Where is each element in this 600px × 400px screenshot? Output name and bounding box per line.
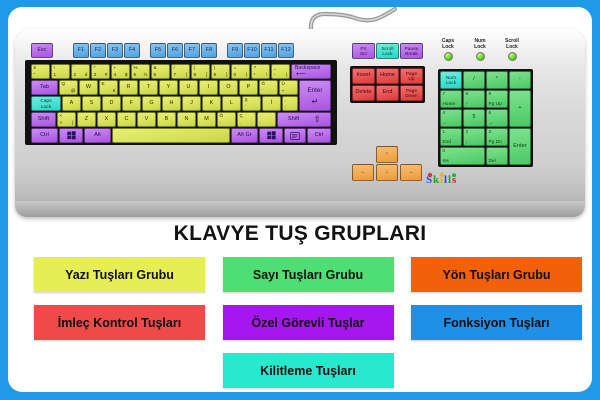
key-label: *	[496, 77, 498, 83]
indicator-label: ScrollLock	[499, 39, 525, 51]
svg-text:l: l	[448, 174, 451, 186]
key-key[interactable]: *	[486, 71, 508, 89]
legend-chip-y-n-tu-lar-grubu[interactable]: Yön Tuşları Grubu	[411, 257, 582, 292]
svg-text:k: k	[433, 174, 440, 186]
key-4[interactable]: 4←	[440, 109, 462, 127]
key-label: Home	[380, 73, 395, 79]
key-key[interactable]: +	[509, 90, 531, 127]
key-del[interactable]: .Del	[486, 147, 508, 165]
key-alt[interactable]: Alt	[84, 128, 111, 143]
key-num-lock[interactable]: NumLock	[440, 71, 462, 89]
key-end[interactable]: End	[376, 85, 399, 101]
legend-chip-label: Yazı Tuşları Grubu	[65, 268, 174, 282]
legend-chip-zel-g-revli-tu-lar[interactable]: Özel Görevli Tuşlar	[223, 305, 394, 340]
key-label: Alt	[94, 133, 101, 139]
key-5[interactable]: 5	[463, 109, 485, 127]
key-delete[interactable]: Delete	[352, 85, 375, 101]
legend-chip-label: Fonksiyon Tuşları	[443, 316, 549, 330]
key-label: 5	[472, 115, 475, 121]
key-label: /	[473, 77, 475, 83]
key-label: Delete	[355, 90, 371, 96]
legend-chip-label: Yön Tuşları Grubu	[442, 268, 550, 282]
legend-chip-label: İmleç Kontrol Tuşları	[58, 316, 181, 330]
indicator-label: NumLock	[467, 39, 493, 51]
key-3-pg-dn[interactable]: 3Pg Dn	[486, 128, 508, 146]
arrow-key-cluster: ↑←↓→	[352, 146, 424, 182]
key-label: Ctrl	[315, 133, 324, 139]
key-prt-scr[interactable]: PrtScr	[352, 43, 375, 59]
legend-row: İmleç Kontrol TuşlarıÖzel Görevli Tuşlar…	[34, 305, 582, 340]
key-ctrl[interactable]: Ctrl	[307, 128, 331, 143]
legend-chip-label: Özel Görevli Tuşlar	[251, 316, 364, 330]
cursor-control-cluster: InsertHomePageUpDeleteEndPageDown	[352, 68, 424, 102]
key-9-pg-up[interactable]: 9Pg Up	[486, 90, 508, 108]
key-ctrl[interactable]: Ctrl	[31, 128, 58, 143]
lock-indicator-panel: CapsLockNumLockScrollLock	[435, 39, 535, 63]
keyboard-illustration: EscF1F2F3F4F5F6F7F8F9F10F11F12 é"!1'2é^3…	[15, 29, 585, 217]
key-label: ↑	[386, 152, 389, 158]
main-key-region: EscF1F2F3F4F5F6F7F8F9F10F11F12 é"!1'2é^3…	[23, 37, 343, 149]
legend-row: Yazı Tuşları GrubuSayı Tuşları GrubuYön …	[34, 257, 582, 292]
legend-chip-i-mle-kontrol-tu-lar[interactable]: İmleç Kontrol Tuşları	[34, 305, 205, 340]
legend-row: Kilitleme Tuşları	[34, 353, 582, 388]
legend-chip-say-tu-lar-grubu[interactable]: Sayı Tuşları Grubu	[223, 257, 394, 292]
legend-chip-fonksiyon-tu-lar[interactable]: Fonksiyon Tuşları	[411, 305, 582, 340]
key-1-end[interactable]: 1End	[440, 128, 462, 146]
key-label: -	[519, 77, 521, 83]
key-page-up[interactable]: PageUp	[400, 68, 423, 84]
legend-chip-label: Kilitleme Tuşları	[260, 364, 356, 378]
key-key[interactable]: -	[509, 71, 531, 89]
key-page-down[interactable]: PageDown	[400, 85, 423, 101]
page-title: KLAVYE TUŞ GRUPLARI	[8, 222, 592, 246]
key-label: +	[518, 106, 521, 112]
indicator-led-icon	[444, 52, 453, 61]
key-key[interactable]: →	[400, 164, 422, 181]
key-home[interactable]: Home	[376, 68, 399, 84]
key-scroll-lock[interactable]: ScrollLock	[376, 43, 399, 59]
indicator-led-icon	[476, 52, 485, 61]
key-label: Ctrl	[40, 133, 49, 139]
key-label: ←	[360, 170, 366, 176]
legend: Yazı Tuşları GrubuSayı Tuşları GrubuYön …	[34, 257, 582, 392]
legend-chip-label: Sayı Tuşları Grubu	[253, 268, 363, 282]
key-label: ↓	[386, 170, 389, 176]
key-key[interactable]: ↓	[376, 164, 398, 181]
legend-chip-yaz-tu-lar-grubu[interactable]: Yazı Tuşları Grubu	[34, 257, 205, 292]
key-7-home[interactable]: 7Home	[440, 90, 462, 108]
key-label: Alt Gr	[237, 133, 251, 139]
indicator-label: CapsLock	[435, 39, 461, 51]
key-pause-break[interactable]: PauseBreak	[400, 43, 423, 59]
key-key[interactable]: ←	[352, 164, 374, 181]
indicator-num-lock: NumLock	[467, 39, 493, 61]
screenshot-root: EscF1F2F3F4F5F6F7F8F9F10F11F12 é"!1'2é^3…	[0, 0, 600, 400]
key-label: Enter	[513, 144, 526, 150]
key-key[interactable]	[112, 128, 230, 143]
content-card: EscF1F2F3F4F5F6F7F8F9F10F11F12 é"!1'2é^3…	[8, 7, 592, 392]
key-alt-gr[interactable]: Alt Gr	[231, 128, 258, 143]
svg-text:l: l	[444, 174, 447, 186]
windows-icon[interactable]	[59, 128, 83, 143]
key-2[interactable]: 2↓	[463, 128, 485, 146]
key-label: End	[383, 90, 393, 96]
brand-logo-icon: S k i l l s	[425, 172, 467, 186]
key-label: →	[408, 170, 414, 176]
indicator-caps-lock: CapsLock	[435, 39, 461, 61]
key-insert[interactable]: Insert	[352, 68, 375, 84]
modifier-key-row: CtrlAltAlt GrCtrl	[23, 37, 343, 149]
indicator-scroll-lock: ScrollLock	[499, 39, 525, 61]
system-key-cluster: PrtScrScrollLockPauseBreak	[352, 43, 424, 60]
key-6[interactable]: 6→	[486, 109, 508, 127]
key-enter[interactable]: Enter	[509, 128, 531, 165]
key-key[interactable]: ↑	[376, 146, 398, 163]
key-label: Insert	[356, 73, 370, 79]
menu-icon[interactable]	[284, 128, 306, 143]
windows-icon[interactable]	[259, 128, 283, 143]
key-0-ins[interactable]: 0Ins	[440, 147, 485, 165]
numeric-keypad: NumLock/*-7Home8↑9Pg Up+4←56→1End2↓3Pg D…	[440, 71, 532, 166]
key-8[interactable]: 8↑	[463, 90, 485, 108]
indicator-led-icon	[508, 52, 517, 61]
key-key[interactable]: /	[463, 71, 485, 89]
legend-chip-kilitleme-tu-lar[interactable]: Kilitleme Tuşları	[223, 353, 394, 388]
